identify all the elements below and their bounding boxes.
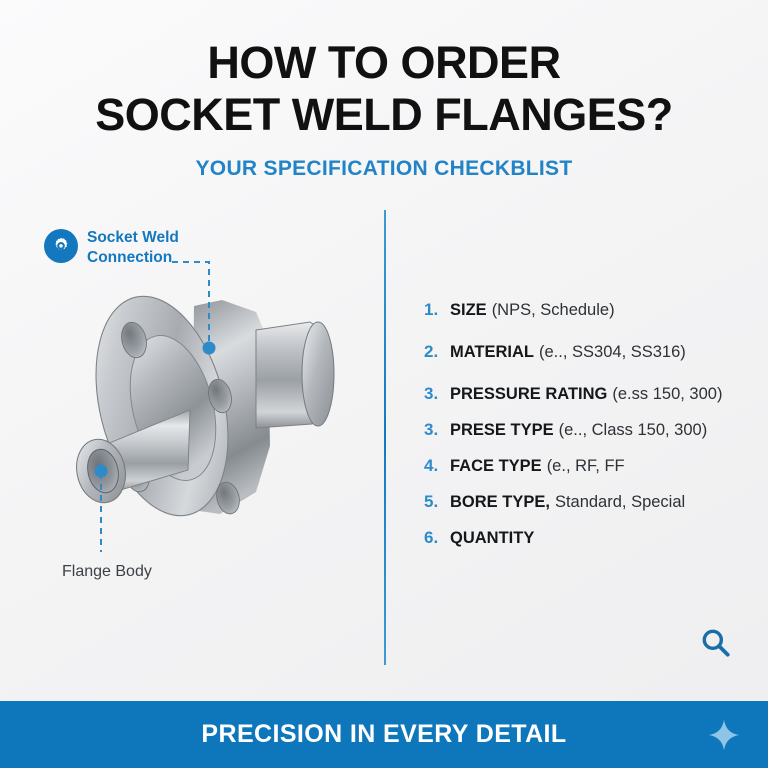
item-number: 6.: [424, 528, 450, 548]
item-number: 4.: [424, 456, 450, 476]
callout-flange-body: Flange Body: [62, 563, 152, 581]
vertical-divider: [384, 210, 386, 665]
item-number: 1.: [424, 300, 450, 320]
item-label: PRESSURE RATING: [450, 385, 607, 404]
item-desc: (e.ss 150, 300): [612, 385, 722, 404]
bottom-banner: PRECISION IN EVERY DETAIL: [0, 701, 768, 768]
item-number: 5.: [424, 492, 450, 512]
item-label: MATERIAL: [450, 343, 534, 362]
banner-text: PRECISION IN EVERY DETAIL: [201, 720, 566, 749]
checklist-item-face-type: 4. FACE TYPE (e., RF, FF: [424, 456, 764, 476]
page-title-line-2: SOCKET WELD FLANGES?: [0, 92, 768, 137]
specification-checklist: 1. SIZE (NPS, Schedule) 2. MATERIAL (e..…: [424, 300, 764, 548]
item-label: BORE TYPE,: [450, 493, 550, 512]
callout-top-text: Socket Weld Connection: [87, 228, 179, 268]
illustration-panel: Socket Weld Connection Flange Body: [0, 200, 384, 670]
flange-hub: [256, 322, 334, 428]
item-desc: Standard, Special: [555, 493, 685, 512]
item-desc: (e.., SS304, SS316): [539, 343, 686, 362]
item-label: FACE TYPE: [450, 457, 542, 476]
infographic-page: HOW TO ORDER SOCKET WELD FLANGES? YOUR S…: [0, 0, 768, 768]
item-number: 2.: [424, 342, 450, 362]
item-desc: (NPS, Schedule): [492, 301, 615, 320]
item-number: 3.: [424, 420, 450, 440]
page-subtitle: YOUR SPECIFICATION CHECKBLIST: [0, 157, 768, 181]
item-label: PRESE TYPE: [450, 421, 554, 440]
item-desc: (e., RF, FF: [547, 457, 625, 476]
checklist-item-quantity: 6. QUANTITY: [424, 528, 764, 548]
item-label: SIZE: [450, 301, 487, 320]
checklist-item-material: 2. MATERIAL (e.., SS304, SS316): [424, 342, 764, 362]
header: HOW TO ORDER SOCKET WELD FLANGES? YOUR S…: [0, 40, 768, 181]
callout-top-line-1: Socket Weld: [87, 228, 179, 248]
item-number: 3.: [424, 384, 450, 404]
checklist-item-pressure-rating: 3. PRESSURE RATING (e.ss 150, 300): [424, 384, 764, 404]
checklist-item-prese-type: 3. PRESE TYPE (e.., Class 150, 300): [424, 420, 764, 440]
flange-illustration: [42, 278, 372, 568]
page-title-line-1: HOW TO ORDER: [0, 40, 768, 85]
checklist-item-size: 1. SIZE (NPS, Schedule): [424, 300, 764, 320]
callout-socket-weld-connection: Socket Weld Connection: [44, 228, 179, 268]
item-desc: (e.., Class 150, 300): [559, 421, 708, 440]
sparkle-icon: [707, 718, 741, 752]
callout-top-line-2: Connection: [87, 248, 179, 268]
checklist-item-bore-type: 5. BORE TYPE, Standard, Special: [424, 492, 764, 512]
search-icon[interactable]: [699, 626, 733, 660]
item-label: QUANTITY: [450, 529, 534, 548]
gear-icon: [44, 229, 78, 263]
